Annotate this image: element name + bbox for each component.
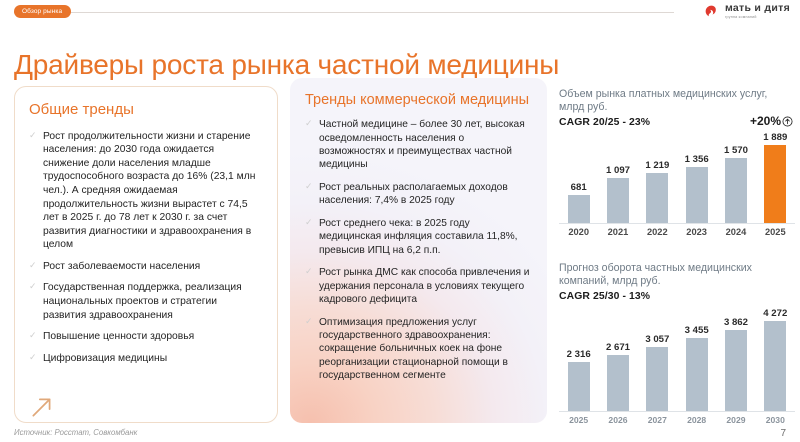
page-number: 7 xyxy=(780,428,786,439)
list-item-label: Оптимизация предложения услуг государств… xyxy=(319,317,508,382)
logo-text: мать и дитя группа компаний xyxy=(725,3,790,19)
bar-rect xyxy=(646,173,668,223)
bar-rect xyxy=(607,178,629,223)
bar-value-label: 2 671 xyxy=(606,342,630,353)
check-icon: ✓ xyxy=(29,353,38,362)
panel-commercial-title: Тренды коммерческой медицины xyxy=(305,92,533,109)
check-icon: ✓ xyxy=(29,282,38,291)
logo-name: мать и дитя xyxy=(725,3,790,14)
list-item-label: Рост среднего чека: в 2025 году медицинс… xyxy=(319,218,518,256)
bar-column: 2 671 xyxy=(598,306,637,411)
x-axis-tick-label: 2026 xyxy=(598,415,637,425)
chart-title: Объем рынка платных медицинских услуг, м… xyxy=(559,88,795,114)
list-item: ✓ Повышение ценности здоровья xyxy=(29,330,263,344)
bar-column: 1 097 xyxy=(598,132,637,223)
list-item: ✓ Государственная поддержка, реализация … xyxy=(29,281,263,322)
list-item: ✓ Рост продолжительности жизни и старени… xyxy=(29,130,263,252)
x-axis-tick-label: 2030 xyxy=(756,415,795,425)
growth-badge-label: +20% xyxy=(750,114,781,128)
bar-rect xyxy=(725,158,747,223)
logo-tagline: группа компаний xyxy=(725,16,790,20)
brand-logo: мать и дитя группа компаний xyxy=(703,3,790,20)
page-title: Драйверы роста рынка частной медицины xyxy=(14,49,559,81)
list-item: ✓ Рост реальных располагаемых доходов на… xyxy=(305,181,533,208)
chart-paid-medical-services-market: Объем рынка платных медицинских услуг, м… xyxy=(559,88,795,240)
bar-value-label: 3 862 xyxy=(724,317,748,328)
chart-plot-area: 6811 0971 2191 3561 5701 889 xyxy=(559,132,795,224)
x-axis-tick-label: 2025 xyxy=(756,227,795,237)
bar-value-label: 1 097 xyxy=(606,165,630,176)
list-item-label: Рост реальных располагаемых доходов насе… xyxy=(319,182,508,206)
bar-value-label: 3 057 xyxy=(645,334,669,345)
bar-value-label: 1 219 xyxy=(645,160,669,171)
growth-badge: +20% xyxy=(750,114,793,128)
x-axis-tick-label: 2029 xyxy=(716,415,755,425)
panel-commercial-bullet-list: ✓ Частной медицине – более 30 лет, высок… xyxy=(305,118,533,383)
check-icon: ✓ xyxy=(305,267,314,276)
chart-bars: 6811 0971 2191 3561 5701 889 xyxy=(559,132,795,223)
list-item-label: Повышение ценности здоровья xyxy=(43,331,194,342)
list-item: ✓ Рост заболеваемости населения xyxy=(29,260,263,274)
chart-title: Прогноз оборота частных медицинских комп… xyxy=(559,262,795,288)
source-note: Источник: Росстат, Совкомбанк xyxy=(14,428,137,437)
list-item: ✓ Цифровизация медицины xyxy=(29,352,263,366)
bar-value-label: 1 570 xyxy=(724,145,748,156)
header-divider xyxy=(14,12,674,13)
bar-column: 1 219 xyxy=(638,132,677,223)
x-axis-tick-label: 2028 xyxy=(677,415,716,425)
bar-value-label: 1 889 xyxy=(763,132,787,143)
list-item-label: Государственная поддержка, реализация на… xyxy=(43,282,242,320)
x-axis-tick-label: 2021 xyxy=(598,227,637,237)
bar-value-label: 4 272 xyxy=(763,308,787,319)
panel-general-trends: Общие тренды ✓ Рост продолжительности жи… xyxy=(14,86,278,423)
bar-column: 3 862 xyxy=(716,306,755,411)
list-item: ✓ Частной медицине – более 30 лет, высок… xyxy=(305,118,533,172)
x-axis-tick-label: 2024 xyxy=(716,227,755,237)
arrow-up-circle-icon xyxy=(782,116,793,127)
chart-plot-area: 2 3162 6713 0573 4553 8624 272 xyxy=(559,306,795,412)
chart-bars: 2 3162 6713 0573 4553 8624 272 xyxy=(559,306,795,411)
bar-column: 1 356 xyxy=(677,132,716,223)
bar-value-label: 1 356 xyxy=(685,154,709,165)
bar-rect xyxy=(764,321,786,411)
chart-private-medical-companies-turnover: Прогноз оборота частных медицинских комп… xyxy=(559,262,795,427)
check-icon: ✓ xyxy=(29,131,38,140)
x-axis-tick-label: 2027 xyxy=(638,415,677,425)
bar-value-label: 2 316 xyxy=(567,349,591,360)
bar-column: 3 057 xyxy=(638,306,677,411)
bar-column: 681 xyxy=(559,132,598,223)
bar-rect xyxy=(646,347,668,411)
bar-column: 2 316 xyxy=(559,306,598,411)
bar-column: 3 455 xyxy=(677,306,716,411)
check-icon: ✓ xyxy=(305,317,314,326)
check-icon: ✓ xyxy=(305,182,314,191)
bar-column: 1 889 xyxy=(756,132,795,223)
x-axis-tick-label: 2022 xyxy=(638,227,677,237)
list-item-label: Рост заболеваемости населения xyxy=(43,261,200,272)
section-badge: Обзор рынка xyxy=(14,5,71,18)
list-item-label: Рост рынка ДМС как способа привлечения и… xyxy=(319,267,530,305)
list-item-label: Рост продолжительности жизни и старение … xyxy=(43,131,255,251)
bar-column: 1 570 xyxy=(716,132,755,223)
list-item-label: Цифровизация медицины xyxy=(43,353,167,364)
bar-rect xyxy=(686,338,708,411)
bar-rect xyxy=(568,195,590,223)
bar-rect xyxy=(568,362,590,411)
logo-mark-icon xyxy=(703,3,720,20)
list-item-label: Частной медицине – более 30 лет, высокая… xyxy=(319,119,525,170)
check-icon: ✓ xyxy=(305,218,314,227)
check-icon: ✓ xyxy=(29,331,38,340)
bar-rect xyxy=(764,145,786,223)
panel-general-bullet-list: ✓ Рост продолжительности жизни и старени… xyxy=(29,130,263,366)
list-item: ✓ Рост среднего чека: в 2025 году медици… xyxy=(305,217,533,257)
bar-rect xyxy=(686,167,708,223)
bar-rect xyxy=(725,330,747,411)
chart-cagr-label: CAGR 25/30 - 13% xyxy=(559,291,795,302)
x-axis-tick-label: 2020 xyxy=(559,227,598,237)
top-bar: Обзор рынка мать и дитя группа компаний xyxy=(0,0,800,26)
bar-value-label: 681 xyxy=(571,182,587,193)
check-icon: ✓ xyxy=(29,261,38,270)
panel-general-title: Общие тренды xyxy=(29,101,263,119)
chart-x-axis-labels: 202020212022202320242025 xyxy=(559,227,795,237)
list-item: ✓ Оптимизация предложения услуг государс… xyxy=(305,316,533,383)
panel-commercial-trends: Тренды коммерческой медицины ✓ Частной м… xyxy=(290,78,547,423)
check-icon: ✓ xyxy=(305,119,314,128)
bar-rect xyxy=(607,355,629,411)
x-axis-tick-label: 2023 xyxy=(677,227,716,237)
chart-x-axis-labels: 202520262027202820292030 xyxy=(559,415,795,425)
bar-column: 4 272 xyxy=(756,306,795,411)
bar-value-label: 3 455 xyxy=(685,325,709,336)
trend-up-arrow-icon xyxy=(29,394,55,420)
x-axis-tick-label: 2025 xyxy=(559,415,598,425)
list-item: ✓ Рост рынка ДМС как способа привлечения… xyxy=(305,266,533,306)
